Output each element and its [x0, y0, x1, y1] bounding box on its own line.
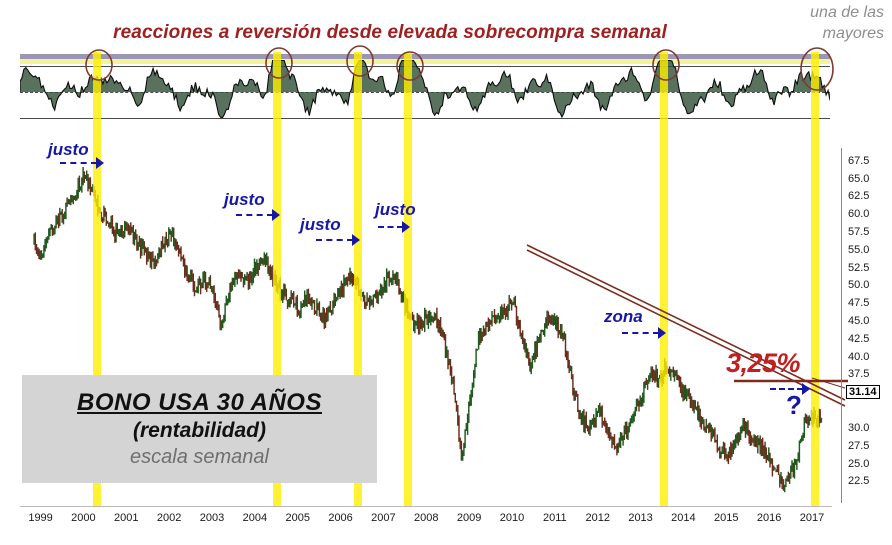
annotation-justo-2: justo: [224, 190, 265, 210]
x-axis-tick: 2008: [414, 512, 438, 524]
y-axis-tick: 65.0: [848, 173, 869, 185]
x-axis-tick: 2012: [585, 512, 609, 524]
x-axis-tick: 1999: [28, 512, 52, 524]
x-axis-tick: 2002: [157, 512, 181, 524]
y-axis-tick: 57.5: [848, 226, 869, 238]
annotation-zona: zona: [604, 307, 643, 327]
oscillator-series: [20, 50, 830, 135]
y-axis-tick: 27.5: [848, 440, 869, 452]
x-axis-tick: 2003: [200, 512, 224, 524]
arrow-head: [96, 157, 104, 169]
x-axis-tick: 2017: [800, 512, 824, 524]
title-line-1: BONO USA 30 AÑOS: [77, 389, 322, 417]
y-axis-tick: 55.0: [848, 244, 869, 256]
last-price-tag: 31.14: [846, 385, 880, 399]
x-axis-tick: 2007: [371, 512, 395, 524]
x-axis-tick: 2000: [71, 512, 95, 524]
x-axis: 1999200020012002200320042005200620072008…: [0, 512, 892, 532]
arrow-justo-1-icon: [60, 157, 104, 169]
y-axis-tick: 25.0: [848, 458, 869, 470]
y-axis-line: [841, 148, 842, 503]
corner-note-text: una de lasmayores: [744, 2, 884, 44]
arrow-justo-4-icon: [378, 221, 410, 233]
arrow-support-icon: [770, 383, 810, 395]
arrow-head: [658, 327, 666, 339]
y-axis-tick: 22.5: [848, 475, 869, 487]
corner-note-line-2: mayores: [744, 23, 884, 44]
y-axis: 67.565.062.560.057.555.052.550.047.545.0…: [838, 148, 892, 503]
y-axis-tick: 50.0: [848, 279, 869, 291]
arrow-justo-3-icon: [316, 234, 360, 246]
arrow-head: [802, 383, 810, 395]
arrow-zona-icon: [622, 327, 666, 339]
oscillator-panel: [20, 50, 830, 135]
resistance-percent-label: 3,25%: [726, 348, 800, 379]
arrow-shaft: [236, 214, 273, 216]
x-axis-tick: 2009: [457, 512, 481, 524]
annotation-justo-3: justo: [300, 215, 341, 235]
arrow-shaft: [60, 162, 97, 164]
annotation-justo-4: justo: [375, 200, 416, 220]
chart-title-box: BONO USA 30 AÑOS (rentabilidad) escala s…: [22, 375, 377, 483]
x-axis-tick: 2011: [543, 512, 567, 524]
arrow-head: [272, 209, 280, 221]
arrow-shaft: [378, 226, 403, 228]
x-axis-tick: 2001: [114, 512, 138, 524]
y-axis-tick: 52.5: [848, 262, 869, 274]
arrow-head: [402, 221, 410, 233]
x-axis-tick: 2015: [714, 512, 738, 524]
arrow-shaft: [316, 239, 353, 241]
arrow-shaft: [622, 332, 659, 334]
y-axis-tick: 67.5: [848, 155, 869, 167]
y-axis-tick: 37.5: [848, 368, 869, 380]
x-axis-tick: 2016: [757, 512, 781, 524]
arrow-shaft: [770, 388, 803, 390]
x-axis-tick: 2013: [628, 512, 652, 524]
y-axis-tick: 30.0: [848, 422, 869, 434]
y-axis-tick: 60.0: [848, 208, 869, 220]
y-axis-tick: 47.5: [848, 297, 869, 309]
y-axis-tick: 62.5: [848, 190, 869, 202]
y-axis-tick: 45.0: [848, 315, 869, 327]
x-axis-tick: 2010: [500, 512, 524, 524]
corner-note-line-1: una de las: [744, 2, 884, 23]
x-axis-tick: 2004: [243, 512, 267, 524]
x-axis-tick: 2014: [671, 512, 695, 524]
y-axis-tick: 42.5: [848, 333, 869, 345]
title-line-2: (rentabilidad): [133, 419, 266, 443]
x-axis-tick: 2006: [328, 512, 352, 524]
chart-root: reacciones a reversión desde elevada sob…: [0, 0, 892, 545]
x-axis-tick: 2005: [285, 512, 309, 524]
x-axis-line: [20, 506, 832, 507]
headline-text: reacciones a reversión desde elevada sob…: [60, 22, 720, 44]
arrow-head: [352, 234, 360, 246]
arrow-justo-2-icon: [236, 209, 280, 221]
title-line-3: escala semanal: [130, 446, 269, 469]
y-axis-tick: 40.0: [848, 351, 869, 363]
